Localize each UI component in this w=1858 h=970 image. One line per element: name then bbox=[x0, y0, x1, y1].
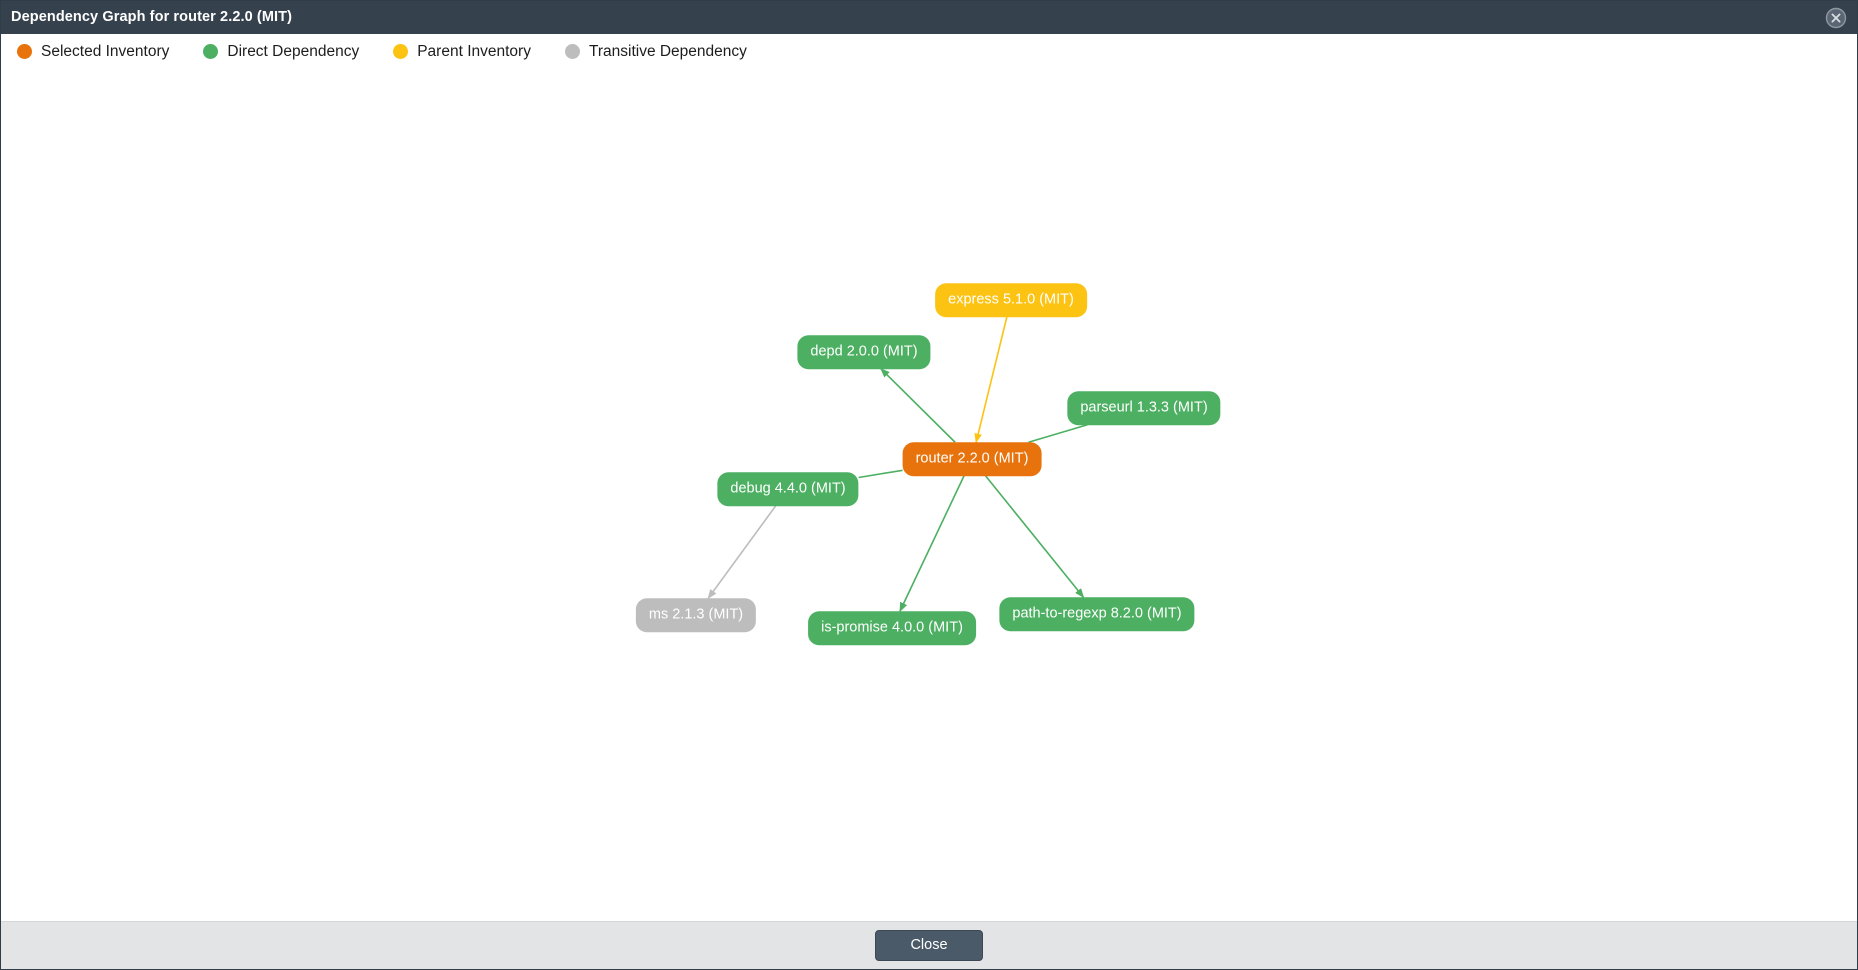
graph-node-is-promise[interactable]: is-promise 4.0.0 (MIT) bbox=[808, 611, 976, 645]
legend-item-direct-dependency: Direct Dependency bbox=[203, 44, 359, 60]
graph-node-path-to-regexp[interactable]: path-to-regexp 8.2.0 (MIT) bbox=[999, 597, 1194, 631]
graph-node-depd[interactable]: depd 2.0.0 (MIT) bbox=[797, 335, 930, 369]
graph-node-label: router 2.2.0 (MIT) bbox=[916, 450, 1029, 466]
graph-node-label: path-to-regexp 8.2.0 (MIT) bbox=[1012, 605, 1181, 621]
dialog-title: Dependency Graph for router 2.2.0 (MIT) bbox=[11, 10, 292, 25]
legend-item-parent-inventory: Parent Inventory bbox=[393, 44, 531, 60]
dependency-graph-canvas[interactable]: express 5.1.0 (MIT)depd 2.0.0 (MIT)parse… bbox=[1, 69, 1857, 921]
legend-item-selected-inventory: Selected Inventory bbox=[17, 44, 169, 60]
graph-edge-router-to-parseurl bbox=[1028, 425, 1087, 443]
graph-node-label: debug 4.4.0 (MIT) bbox=[730, 480, 845, 496]
graph-node-parseurl[interactable]: parseurl 1.3.3 (MIT) bbox=[1067, 391, 1220, 425]
graph-node-label: depd 2.0.0 (MIT) bbox=[810, 343, 917, 359]
legend-label: Direct Dependency bbox=[227, 44, 359, 60]
graph-edge-debug-to-ms bbox=[708, 506, 776, 599]
legend-label: Transitive Dependency bbox=[589, 44, 747, 60]
graph-edge-router-to-depd bbox=[881, 369, 955, 443]
legend-label: Selected Inventory bbox=[41, 44, 169, 60]
graph-edge-router-to-is-promise bbox=[900, 476, 964, 612]
legend-dot-icon bbox=[17, 44, 32, 59]
graph-node-router[interactable]: router 2.2.0 (MIT) bbox=[903, 442, 1042, 476]
graph-edges-layer bbox=[1, 69, 1857, 921]
dependency-graph-dialog: Dependency Graph for router 2.2.0 (MIT) … bbox=[0, 0, 1858, 970]
graph-node-label: ms 2.1.3 (MIT) bbox=[649, 606, 743, 622]
close-circle-icon[interactable] bbox=[1825, 7, 1847, 29]
legend-dot-icon bbox=[203, 44, 218, 59]
graph-edge-router-to-debug bbox=[859, 470, 903, 477]
dialog-footer: Close bbox=[1, 921, 1857, 969]
legend-label: Parent Inventory bbox=[417, 44, 531, 60]
graph-legend: Selected Inventory Direct Dependency Par… bbox=[1, 34, 1857, 69]
graph-node-label: parseurl 1.3.3 (MIT) bbox=[1080, 399, 1207, 415]
graph-node-debug[interactable]: debug 4.4.0 (MIT) bbox=[717, 472, 858, 506]
graph-node-label: express 5.1.0 (MIT) bbox=[948, 291, 1074, 307]
legend-dot-icon bbox=[393, 44, 408, 59]
graph-node-express[interactable]: express 5.1.0 (MIT) bbox=[935, 283, 1087, 317]
graph-edge-express-to-router bbox=[976, 317, 1007, 443]
graph-node-ms[interactable]: ms 2.1.3 (MIT) bbox=[636, 598, 756, 632]
legend-item-transitive-dependency: Transitive Dependency bbox=[565, 44, 747, 60]
graph-edge-router-to-path-to-regexp bbox=[986, 476, 1084, 598]
dialog-titlebar: Dependency Graph for router 2.2.0 (MIT) bbox=[1, 1, 1857, 34]
legend-dot-icon bbox=[565, 44, 580, 59]
graph-node-label: is-promise 4.0.0 (MIT) bbox=[821, 619, 963, 635]
close-button[interactable]: Close bbox=[875, 930, 982, 961]
